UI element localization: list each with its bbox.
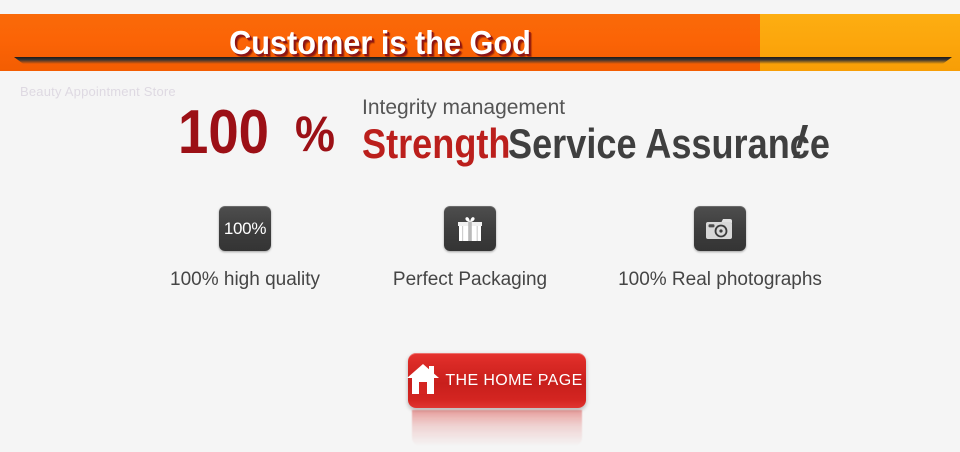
feature-item-photos: 100% Real photographs — [570, 206, 870, 291]
feature-label-quality: 100% high quality — [170, 269, 320, 291]
headline-block: Integrity management 100 % Strength Serv… — [178, 96, 898, 176]
percent-badge-icon: 100% — [219, 206, 271, 251]
feature-item-quality: 100% 100% high quality — [120, 206, 370, 291]
feature-label-photos: 100% Real photographs — [618, 269, 822, 291]
home-page-button[interactable]: THE HOME PAGE — [408, 353, 586, 408]
feature-label-packaging: Perfect Packaging — [393, 269, 547, 291]
headline-strength-word: Strength — [362, 121, 510, 167]
feature-list: 100% 100% high quality Perfect Packaging — [120, 206, 920, 291]
home-page-button-label: THE HOME PAGE — [445, 372, 582, 390]
store-name: Beauty Appointment Store — [20, 84, 176, 99]
house-icon — [405, 362, 441, 399]
gift-box-icon — [444, 206, 496, 251]
camera-icon — [694, 206, 746, 251]
headline-service-assurance: Service Assurance — [508, 121, 830, 167]
headline-integrity-text: Integrity management — [362, 96, 565, 120]
banner-drop-shadow — [14, 57, 952, 64]
headline-number: 100 — [178, 102, 269, 164]
percent-badge-icon-label: 100% — [224, 219, 266, 239]
headline-percent-sign: % — [295, 108, 335, 160]
home-button-reflection — [412, 410, 582, 446]
feature-item-packaging: Perfect Packaging — [370, 206, 570, 291]
